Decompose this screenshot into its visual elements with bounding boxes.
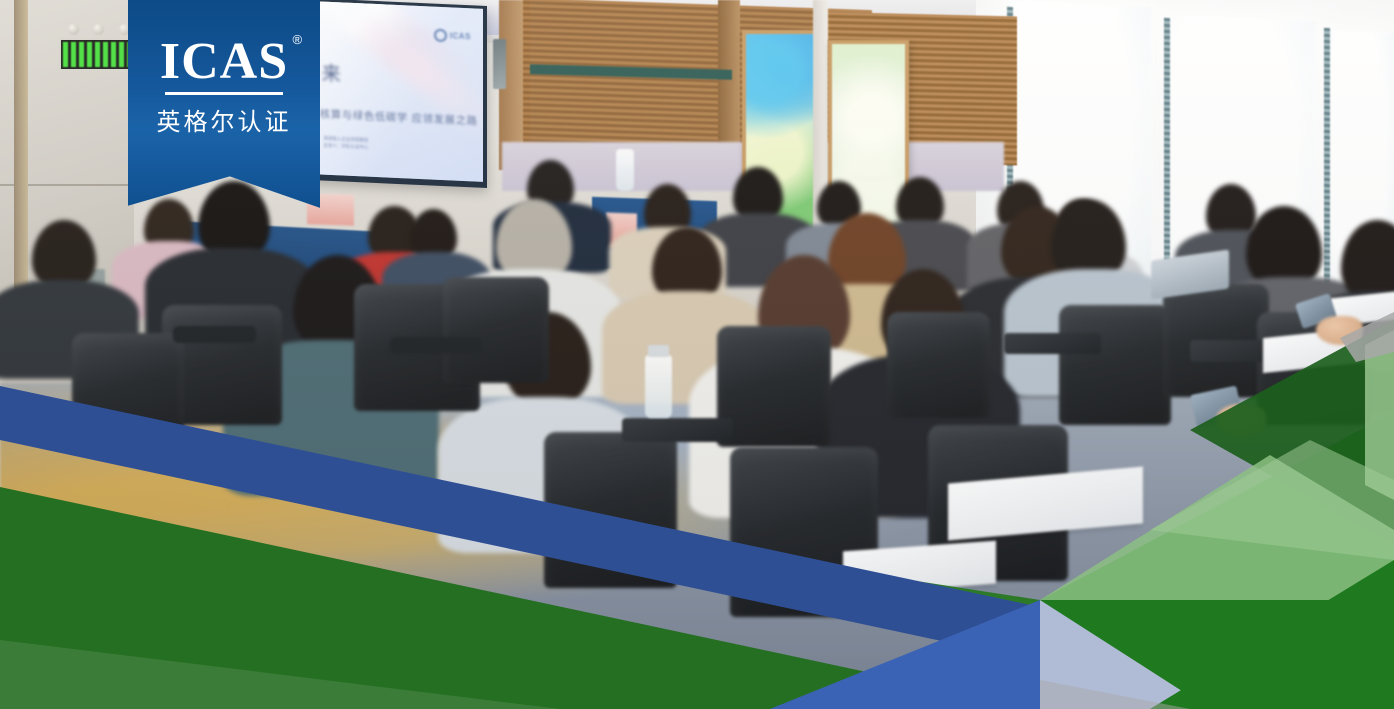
icas-ring-icon (434, 29, 447, 43)
chair (443, 277, 549, 383)
water-bottle (645, 355, 671, 419)
slide-title: 来 (322, 59, 343, 87)
chair-tablet-arm (622, 418, 734, 442)
chair (72, 333, 184, 446)
exit-sign-icon (59, 38, 133, 71)
projection-screen-surface: ICAS 来 核算与绿色低碳学 应领发展之路 演讲嵌入企业双碳路径 主讲人：对标… (315, 1, 483, 181)
banner-canvas: ICAS 来 核算与绿色低碳学 应领发展之路 演讲嵌入企业双碳路径 主讲人：对标… (0, 0, 1394, 709)
chair (717, 326, 831, 447)
slide-fine-print: 演讲嵌入企业双碳路径 主讲人：对标认证中心 (323, 135, 368, 151)
slide-brand-logo: ICAS (434, 29, 471, 44)
door-frame (14, 0, 28, 326)
bottle-cap (648, 345, 669, 358)
registered-trademark-icon: ® (293, 33, 304, 46)
attendee-hand (1216, 404, 1266, 437)
attendee-hand (1316, 316, 1363, 346)
slide-brand-text: ICAS (450, 32, 471, 42)
chair-tablet-arm (1004, 333, 1102, 354)
logo-underline (165, 92, 283, 95)
icas-wordmark: ICAS ® (160, 36, 288, 88)
microphone-icon (493, 39, 506, 89)
chair-armrest (173, 326, 257, 343)
emergency-lamps (61, 18, 136, 39)
chair (544, 432, 678, 588)
chair (1059, 305, 1171, 426)
icas-wordmark-text: ICAS (160, 33, 288, 90)
water-bottle (616, 149, 634, 192)
chair-armrest (390, 337, 482, 354)
icas-chinese-name: 英格尔认证 (157, 102, 292, 137)
projection-screen: ICAS 来 核算与绿色低碳学 应领发展之路 演讲嵌入企业双碳路径 主讲人：对标… (311, 0, 487, 188)
chair (887, 312, 990, 418)
